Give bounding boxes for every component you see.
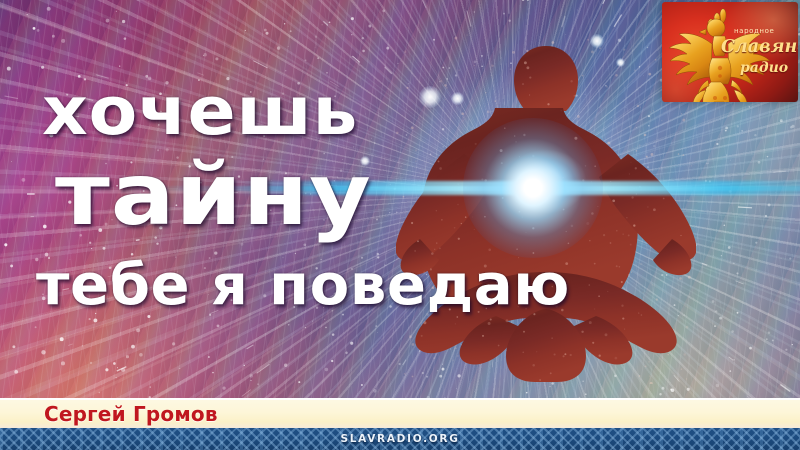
footer-ornament-band: SLAVRADIO.ORG [0,428,800,450]
light-orb-icon [360,156,370,166]
logo-main-text: Славянское [721,37,798,57]
light-orb-icon [616,58,625,67]
speaker-name-bar: Сергей Громов [0,398,800,428]
light-orb-icon [419,86,441,108]
station-logo[interactable]: народное Славянское радио [662,2,798,102]
poster-canvas: хочешь тайну тебе я поведаю [0,0,800,450]
logo-sub-text: радио [740,60,788,76]
light-orb-icon [590,34,604,48]
light-orb-icon [451,92,464,105]
logo-small-text: народное [734,27,774,35]
speaker-name: Сергей Громов [44,402,218,426]
site-url[interactable]: SLAVRADIO.ORG [0,428,800,450]
